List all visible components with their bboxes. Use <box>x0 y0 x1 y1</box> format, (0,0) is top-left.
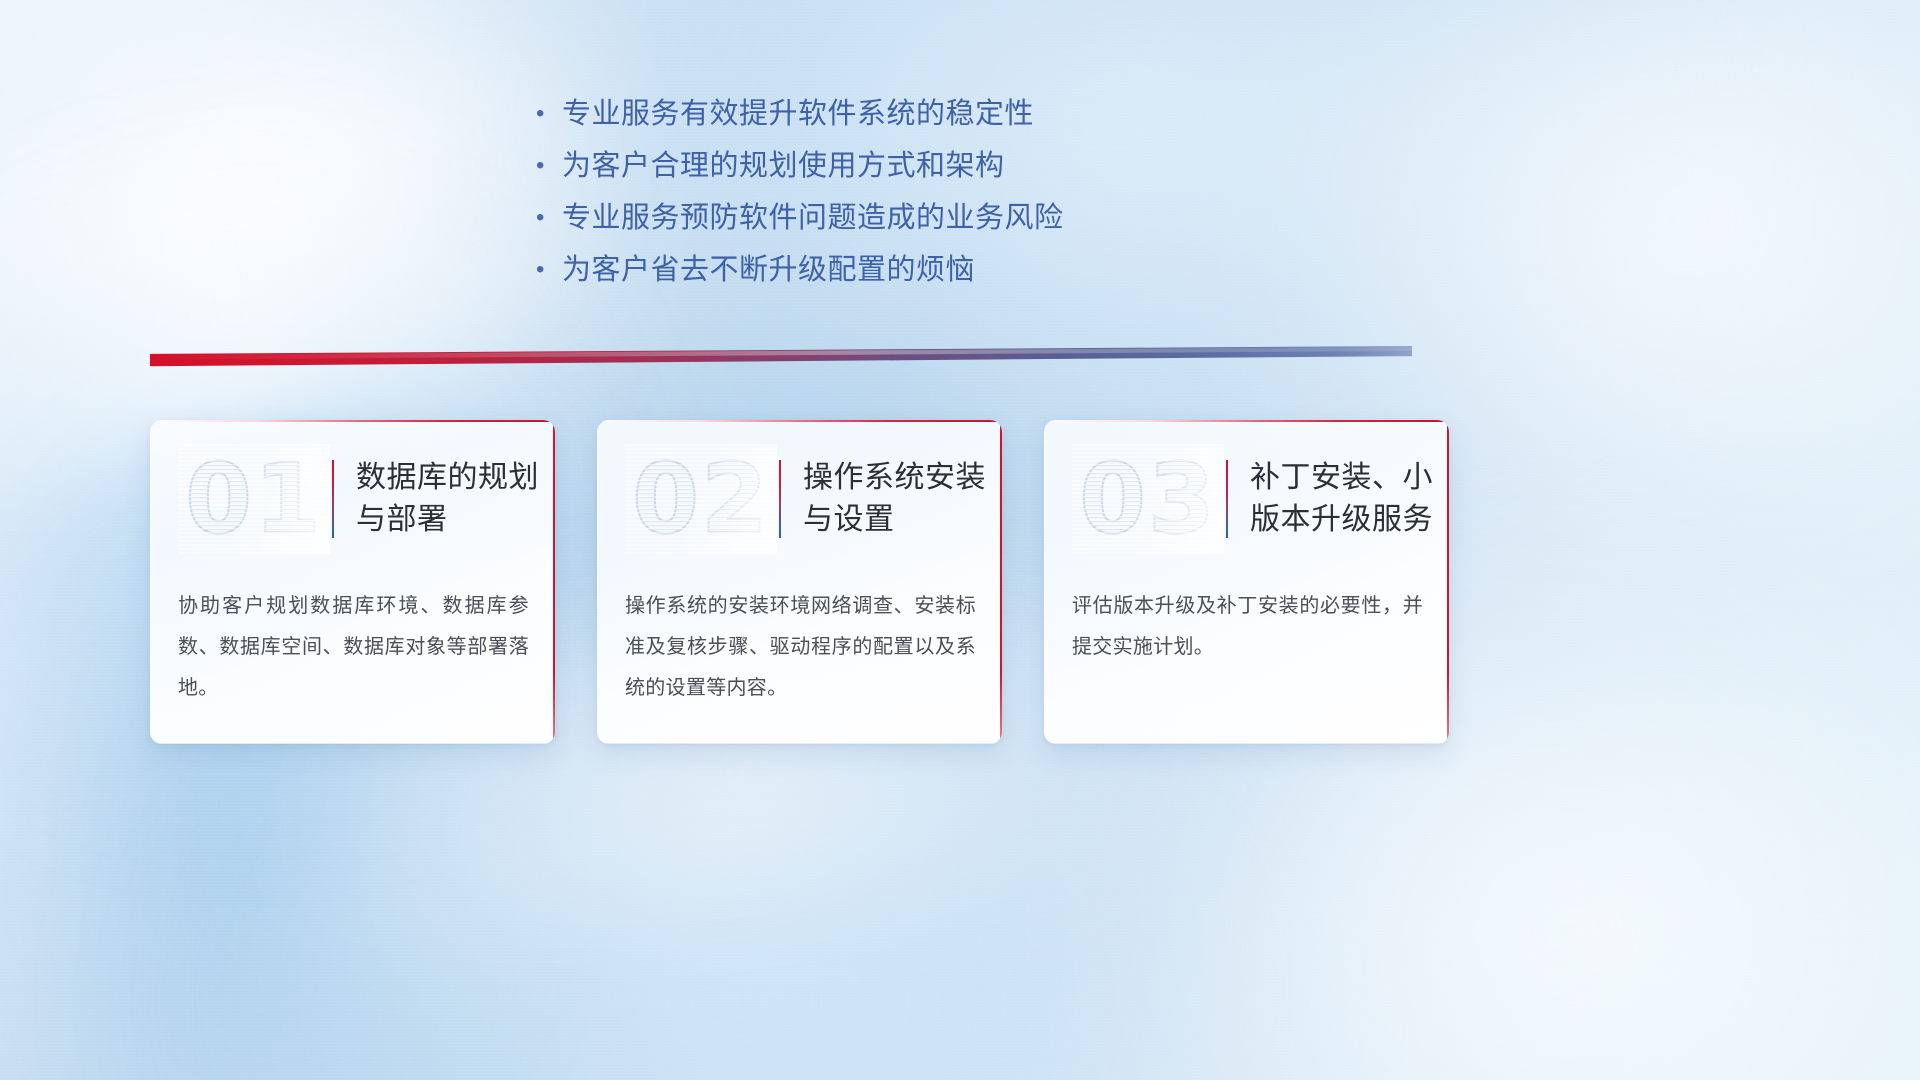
card-title-divider <box>1226 460 1228 538</box>
card-bottom-border <box>597 743 1002 744</box>
card-number-text: 03 <box>1079 445 1217 553</box>
list-item: • 为客户省去不断升级配置的烦恼 <box>536 248 1156 300</box>
benefits-bullet-list: • 专业服务有效提升软件系统的稳定性 • 为客户合理的规划使用方式和架构 • 专… <box>536 92 1156 300</box>
card-bottom-border <box>1044 743 1449 744</box>
section-divider <box>150 346 1412 368</box>
bullet-text: 专业服务预防软件问题造成的业务风险 <box>562 196 1064 240</box>
card-title-divider <box>779 460 781 538</box>
card-number-badge: 03 <box>1072 444 1224 554</box>
bullet-point-icon: • <box>536 144 562 188</box>
bullet-text: 专业服务有效提升软件系统的稳定性 <box>562 92 1034 136</box>
card-top-accent-border <box>597 420 1002 422</box>
card-top-accent-border <box>1044 420 1449 422</box>
bullet-point-icon: • <box>536 92 562 136</box>
bullet-point-icon: • <box>536 248 562 292</box>
service-card-01[interactable]: 01 数据库的规划与部署 协助客户规划数据库环境、数据库参数、数据库空间、数据库… <box>150 420 555 744</box>
card-description: 协助客户规划数据库环境、数据库参数、数据库空间、数据库对象等部署落地。 <box>178 586 529 709</box>
card-title: 操作系统安装与设置 <box>803 457 1002 541</box>
bullet-point-icon: • <box>536 196 562 240</box>
list-item: • 专业服务预防软件问题造成的业务风险 <box>536 196 1156 248</box>
card-title: 补丁安装、小版本升级服务 <box>1250 457 1449 541</box>
card-bottom-border <box>150 743 555 744</box>
list-item: • 为客户合理的规划使用方式和架构 <box>536 144 1156 196</box>
service-card-02[interactable]: 02 操作系统安装与设置 操作系统的安装环境网络调查、安装标准及复核步骤、驱动程… <box>597 420 1002 744</box>
card-number-text: 02 <box>632 445 770 553</box>
bullet-text: 为客户省去不断升级配置的烦恼 <box>562 248 975 292</box>
card-description: 操作系统的安装环境网络调查、安装标准及复核步骤、驱动程序的配置以及系统的设置等内… <box>625 586 976 709</box>
card-title-divider <box>332 460 334 538</box>
card-number-badge: 01 <box>178 444 330 554</box>
card-number-badge: 02 <box>625 444 777 554</box>
card-top-accent-border <box>150 420 555 422</box>
service-card-03[interactable]: 03 补丁安装、小版本升级服务 评估版本升级及补丁安装的必要性，并提交实施计划。 <box>1044 420 1449 744</box>
card-header: 03 补丁安装、小版本升级服务 <box>1044 440 1449 558</box>
bullet-text: 为客户合理的规划使用方式和架构 <box>562 144 1005 188</box>
card-title: 数据库的规划与部署 <box>356 457 555 541</box>
card-number-text: 01 <box>185 445 323 553</box>
card-description: 评估版本升级及补丁安装的必要性，并提交实施计划。 <box>1072 586 1423 668</box>
service-card-list: 01 数据库的规划与部署 协助客户规划数据库环境、数据库参数、数据库空间、数据库… <box>150 420 1450 744</box>
card-header: 01 数据库的规划与部署 <box>150 440 555 558</box>
list-item: • 专业服务有效提升软件系统的稳定性 <box>536 92 1156 144</box>
card-header: 02 操作系统安装与设置 <box>597 440 1002 558</box>
